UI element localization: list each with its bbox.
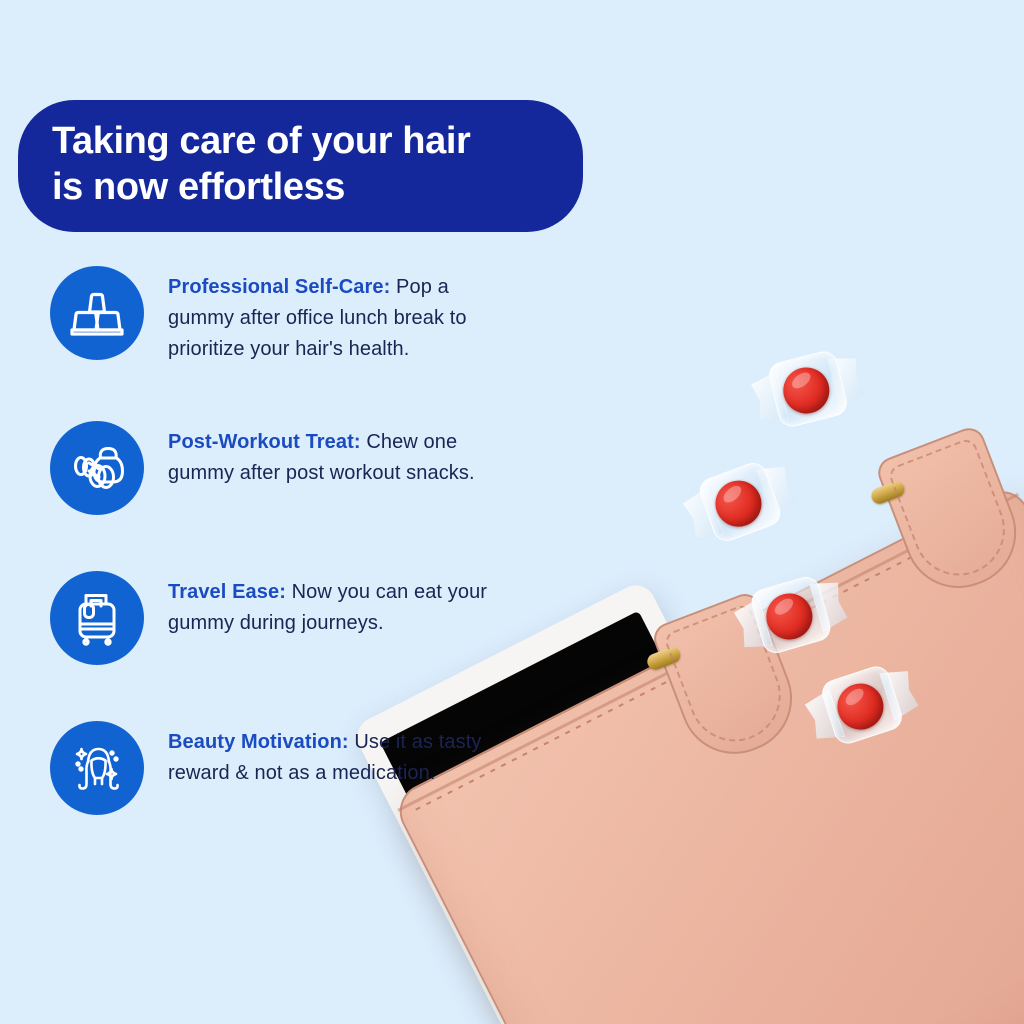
wrapper-pouch — [748, 574, 833, 657]
smartphone-device — [556, 678, 880, 1024]
woman-hair-beauty-icon — [50, 721, 144, 815]
feature-list: Professional Self-Care: Pop a gummy afte… — [50, 266, 570, 815]
gummy-bead — [778, 363, 834, 419]
wrapper-twist-right — [879, 664, 923, 721]
lipstick-tube — [572, 800, 636, 852]
feature-item-post-workout-treat: Post-Workout Treat: Chew one gummy after… — [50, 421, 570, 515]
feature-item-travel-ease: Travel Ease: Now you can eat your gummy … — [50, 571, 570, 665]
headline-badge: Taking care of your hair is now effortle… — [18, 100, 583, 232]
headline-line-1: Taking care of your hair — [52, 118, 549, 164]
suitcase-icon — [50, 571, 144, 665]
wrapper-pouch — [819, 663, 906, 747]
gummy-bead — [709, 474, 768, 533]
gummy-bead — [831, 678, 889, 736]
wrapped-gummy — [675, 448, 806, 556]
feature-label: Travel Ease: — [168, 581, 286, 603]
wrapped-gummy — [745, 340, 872, 439]
wrapper-twist-left — [801, 689, 845, 746]
gold-bars-icon — [50, 266, 144, 360]
handbag-handle-tab — [649, 589, 807, 769]
wrapper-twist-left — [748, 371, 789, 427]
gold-ring-hardware — [869, 479, 906, 506]
feature-label: Post-Workout Treat: — [168, 431, 361, 453]
gold-ring-hardware — [645, 645, 682, 672]
feature-label: Professional Self-Care: — [168, 276, 390, 298]
feature-text: Beauty Motivation: Use it as tasty rewar… — [168, 721, 520, 789]
feature-item-professional-self-care: Professional Self-Care: Pop a gummy afte… — [50, 266, 570, 365]
feature-item-beauty-motivation: Beauty Motivation: Use it as tasty rewar… — [50, 721, 570, 815]
wrapper-pouch — [766, 349, 850, 430]
wrapped-gummy — [727, 564, 855, 666]
wrapper-twist-right — [827, 351, 868, 407]
wrapper-pouch — [696, 459, 784, 545]
stylus-pen — [871, 578, 912, 690]
feature-text: Professional Self-Care: Pop a gummy afte… — [168, 266, 520, 365]
wrapper-twist-right — [809, 576, 852, 632]
wrapped-gummy — [797, 653, 926, 758]
wrapper-twist-right — [756, 459, 801, 516]
gummy-bead — [761, 588, 818, 645]
wrapper-twist-left — [679, 487, 724, 544]
wrapper-twist-left — [730, 598, 773, 654]
kettlebell-dumbbell-icon — [50, 421, 144, 515]
handbag-handle-tab — [874, 424, 1024, 604]
feature-label: Beauty Motivation: — [168, 731, 349, 753]
feature-text: Post-Workout Treat: Chew one gummy after… — [168, 421, 520, 489]
headline-line-2: is now effortless — [52, 164, 549, 210]
phone-screen — [584, 718, 857, 1024]
feature-text: Travel Ease: Now you can eat your gummy … — [168, 571, 520, 639]
lipstick-bullet — [537, 822, 590, 871]
